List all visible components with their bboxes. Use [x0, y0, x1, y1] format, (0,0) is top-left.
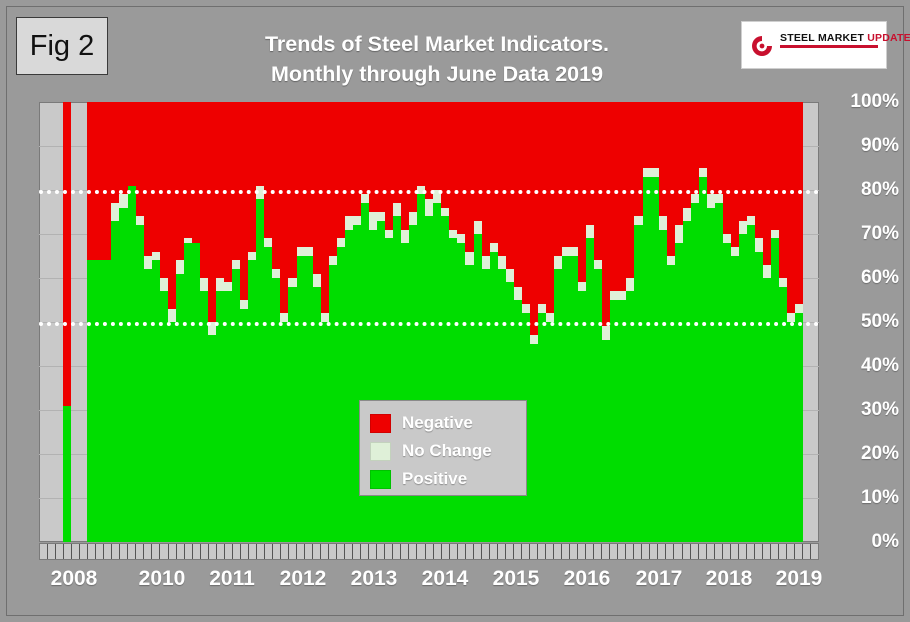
bar-segment-negative: [136, 102, 144, 216]
bar-segment-positive: [152, 260, 160, 542]
bar-segment-positive: [184, 243, 192, 542]
x-axis-tick: [361, 544, 369, 559]
bar-segment-negative: [465, 102, 473, 252]
logo-underline: [780, 45, 878, 48]
bar-segment-negative: [433, 102, 441, 190]
x-axis-tick: [233, 544, 241, 559]
x-axis-tick-label: 2014: [422, 567, 469, 591]
x-axis-tick: [787, 544, 795, 559]
x-axis-tick: [514, 544, 522, 559]
bar-segment-no-change: [248, 252, 256, 261]
bar-segment-positive: [723, 243, 731, 542]
bar-segment-no-change: [313, 274, 321, 287]
bar-segment-positive: [160, 291, 168, 542]
bar-segment-negative: [755, 102, 763, 238]
bar-segment-no-change: [393, 203, 401, 216]
legend-item-positive: Positive: [370, 465, 516, 493]
x-axis-tick: [104, 544, 112, 559]
bar-segment-no-change: [610, 291, 618, 300]
bar-segment-negative: [474, 102, 482, 221]
bar-segment-positive: [272, 278, 280, 542]
bar-segment-no-change: [683, 208, 691, 221]
x-axis-tick: [610, 544, 618, 559]
bar-segment-positive: [337, 247, 345, 542]
bar-segment-no-change: [272, 269, 280, 278]
bar-segment-no-change: [168, 309, 176, 322]
bar-segment-no-change: [643, 168, 651, 177]
bar-segment-no-change: [152, 252, 160, 261]
x-axis-tick: [586, 544, 594, 559]
bar-segment-positive: [232, 269, 240, 542]
x-axis-tick: [144, 544, 152, 559]
x-axis-tick: [658, 544, 666, 559]
bar-segment-positive: [739, 234, 747, 542]
x-axis-tick: [96, 544, 104, 559]
figure-number-box: Fig 2: [16, 17, 108, 75]
x-axis-tick: [546, 544, 554, 559]
x-axis-tick: [337, 544, 345, 559]
bar-segment-no-change: [506, 269, 514, 282]
bar-segment-no-change: [530, 335, 538, 344]
x-axis-tick: [128, 544, 136, 559]
x-axis-tick: [305, 544, 313, 559]
bar-segment-negative: [739, 102, 747, 221]
bar-segment-no-change: [441, 208, 449, 217]
logo-word-market: MARKET: [818, 32, 864, 44]
bar-segment-negative: [602, 102, 610, 326]
bar-segment-negative: [610, 102, 618, 291]
bar-segment-positive: [385, 238, 393, 542]
x-axis-tick: [594, 544, 602, 559]
bar-segment-no-change: [570, 247, 578, 256]
bar-segment-positive: [192, 243, 200, 542]
bar-segment-negative: [457, 102, 465, 234]
bar-segment-negative: [393, 102, 401, 203]
bar-segment-no-change: [586, 225, 594, 238]
x-axis-tick-label: 2017: [636, 567, 683, 591]
legend-swatch-positive: [370, 470, 391, 489]
legend-label-negative: Negative: [402, 413, 473, 433]
bar-segment-positive: [634, 225, 642, 542]
bar-segment-negative: [232, 102, 240, 260]
x-axis-tick: [377, 544, 385, 559]
bar-segment-positive: [224, 291, 232, 542]
y-axis-tick-label: 20%: [861, 443, 899, 465]
bar-segment-negative: [329, 102, 337, 256]
bar-segment-negative: [409, 102, 417, 212]
bar-segment-negative: [449, 102, 457, 230]
x-axis-tick: [417, 544, 425, 559]
x-axis-tick: [313, 544, 321, 559]
logo-word-steel: STEEL: [780, 32, 815, 44]
bar-segment-no-change: [514, 287, 522, 300]
x-axis-tick: [530, 544, 538, 559]
x-axis-tick: [241, 544, 249, 559]
x-axis-tick-label: 2010: [139, 567, 186, 591]
bar-segment-no-change: [723, 234, 731, 243]
bar-segment-no-change: [691, 194, 699, 203]
x-axis-tick: [683, 544, 691, 559]
bar-segment-negative: [506, 102, 514, 269]
bar-segment-negative: [280, 102, 288, 313]
bar-segment-no-change: [522, 304, 530, 313]
bar-segment-positive: [248, 260, 256, 542]
bar-segment-positive: [490, 252, 498, 542]
bar-segment-positive: [200, 291, 208, 542]
x-axis-tick: [40, 544, 48, 559]
bar-segment-no-change: [425, 199, 433, 217]
x-axis-tick: [120, 544, 128, 559]
bar-segment-no-change: [538, 304, 546, 313]
bar-segment-negative: [345, 102, 353, 216]
bar-segment-negative: [144, 102, 152, 256]
bar-segment-no-change: [288, 278, 296, 287]
bar-segment-positive: [578, 291, 586, 542]
bar-segment-positive: [586, 238, 594, 542]
x-axis-tick: [779, 544, 787, 559]
x-axis-tick: [401, 544, 409, 559]
bar-segment-negative: [377, 102, 385, 212]
bar-segment-negative: [95, 102, 103, 260]
bar-segment-no-change: [321, 313, 329, 322]
bar-segment-positive: [602, 340, 610, 542]
bar-segment-negative: [562, 102, 570, 247]
bar-segment-negative: [675, 102, 683, 225]
bar-segment-negative: [482, 102, 490, 256]
bar-segment-positive: [297, 256, 305, 542]
bar-segment-positive: [707, 208, 715, 542]
bar-segment-negative: [401, 102, 409, 230]
x-axis-tick: [209, 544, 217, 559]
x-axis-tick: [795, 544, 803, 559]
bar-segment-no-change: [111, 203, 119, 221]
bar-segment-negative: [586, 102, 594, 225]
bar-segment-positive: [111, 221, 119, 542]
bar-segment-no-change: [401, 230, 409, 243]
bar-segment-negative: [337, 102, 345, 238]
bar-segment-negative: [168, 102, 176, 309]
bar-segment-negative: [248, 102, 256, 252]
bar-segment-no-change: [771, 230, 779, 239]
bar-segment-no-change: [747, 216, 755, 225]
bar-segment-positive: [747, 225, 755, 542]
bar-segment-positive: [763, 278, 771, 542]
x-axis-tick: [666, 544, 674, 559]
bar-segment-no-change: [385, 230, 393, 239]
bar-segment-negative: [321, 102, 329, 313]
x-axis-tick: [602, 544, 610, 559]
x-axis-tick: [72, 544, 80, 559]
bar-segment-negative: [715, 102, 723, 194]
bar-segment-negative: [256, 102, 264, 186]
x-axis-tick: [385, 544, 393, 559]
bar-segment-no-change: [361, 194, 369, 203]
bar-segment-no-change: [353, 216, 361, 225]
x-axis-tick: [458, 544, 466, 559]
x-axis-tick-strip: [39, 543, 819, 560]
bar-segment-positive: [659, 230, 667, 542]
bar-segment-positive: [168, 322, 176, 542]
y-axis-tick-label: 70%: [861, 223, 899, 245]
x-axis-tick: [64, 544, 72, 559]
bar-segment-negative: [264, 102, 272, 238]
x-axis-labels: 2008201020112012201320142015201620172018…: [39, 567, 819, 603]
bar-segment-negative: [731, 102, 739, 247]
reference-line-80: [39, 190, 819, 194]
x-axis-tick: [281, 544, 289, 559]
bar-segment-negative: [63, 102, 71, 406]
bar-segment-no-change: [200, 278, 208, 291]
y-axis-labels: 0%10%20%30%40%50%60%70%80%90%100%: [825, 102, 899, 542]
bar-segment-no-change: [675, 225, 683, 243]
bar-segment-no-change: [409, 212, 417, 225]
y-axis-tick-label: 80%: [861, 179, 899, 201]
x-axis-tick: [506, 544, 514, 559]
bar-segment-negative: [643, 102, 651, 168]
x-axis-tick-label: 2013: [351, 567, 398, 591]
bar-segment-positive: [256, 199, 264, 542]
bar-segment-positive: [562, 256, 570, 542]
bar-segment-no-change: [795, 304, 803, 313]
x-axis-tick: [273, 544, 281, 559]
bar-segment-negative: [425, 102, 433, 199]
x-axis-tick: [185, 544, 193, 559]
bar-segment-positive: [570, 256, 578, 542]
reference-line-50: [39, 322, 819, 326]
bar-segment-positive: [546, 322, 554, 542]
x-axis-tick: [538, 544, 546, 559]
x-axis-tick: [482, 544, 490, 559]
legend-item-no-change: No Change: [370, 437, 516, 465]
bar-segment-no-change: [377, 212, 385, 221]
bar-segment-negative: [176, 102, 184, 260]
x-axis-tick: [755, 544, 763, 559]
x-axis-tick: [739, 544, 747, 559]
x-axis-tick: [811, 544, 818, 559]
y-axis-tick-label: 90%: [861, 135, 899, 157]
steel-market-update-logo: STEEL MARKET UPDATE: [741, 21, 887, 69]
x-axis-tick: [329, 544, 337, 559]
chart-title: Trends of Steel Market Indicators. Month…: [177, 29, 697, 89]
x-axis-tick: [731, 544, 739, 559]
bar-segment-no-change: [787, 313, 795, 322]
bar-segment-no-change: [634, 216, 642, 225]
x-axis-tick: [426, 544, 434, 559]
bar-segment-negative: [103, 102, 111, 260]
bar-segment-negative: [530, 102, 538, 335]
bar-segment-negative: [634, 102, 642, 216]
swoosh-icon: [748, 32, 776, 60]
x-axis-tick: [265, 544, 273, 559]
x-axis-tick: [321, 544, 329, 559]
bar-segment-positive: [240, 309, 248, 542]
bar-segment-no-change: [240, 300, 248, 309]
bar-segment-positive: [667, 265, 675, 542]
bar-segment-positive: [305, 256, 313, 542]
bar-segment-no-change: [369, 212, 377, 230]
bar-segment-negative: [707, 102, 715, 194]
bar-segment-positive: [144, 269, 152, 542]
bar-segment-positive: [449, 238, 457, 542]
bar-segment-positive: [610, 300, 618, 542]
x-axis-tick: [193, 544, 201, 559]
bar-segment-no-change: [482, 256, 490, 269]
x-axis-tick-label: 2018: [706, 567, 753, 591]
bar-segment-no-change: [715, 194, 723, 203]
bar-segment-no-change: [457, 234, 465, 243]
bar-segment-negative: [538, 102, 546, 304]
x-axis-tick: [803, 544, 811, 559]
x-axis-tick-label: 2008: [51, 567, 98, 591]
bar-segment-negative: [361, 102, 369, 194]
bar-segment-positive: [264, 247, 272, 542]
bar-segment-negative: [771, 102, 779, 230]
bar-segment-positive: [538, 313, 546, 542]
bar-segment-no-change: [594, 260, 602, 269]
bar-segment-no-change: [618, 291, 626, 300]
x-axis-tick: [707, 544, 715, 559]
bar-segment-negative: [111, 102, 119, 203]
bar-segment-negative: [659, 102, 667, 216]
bar-segment-no-change: [578, 282, 586, 291]
bar-segment-no-change: [490, 243, 498, 252]
y-axis-tick-label: 10%: [861, 487, 899, 509]
x-axis-tick: [409, 544, 417, 559]
bar-segment-no-change: [739, 221, 747, 234]
bar-segment-positive: [691, 203, 699, 542]
x-axis-tick: [289, 544, 297, 559]
chart-title-line2: Monthly through June Data 2019: [177, 59, 697, 89]
bar-segment-positive: [626, 291, 634, 542]
bar-segment-positive: [119, 208, 127, 542]
x-axis-tick: [393, 544, 401, 559]
bar-segment-no-change: [144, 256, 152, 269]
bar-segment-negative: [490, 102, 498, 243]
x-axis-tick: [554, 544, 562, 559]
legend-label-positive: Positive: [402, 469, 467, 489]
bar-segment-positive: [771, 238, 779, 542]
bar-segment-no-change: [474, 221, 482, 234]
x-axis-tick: [578, 544, 586, 559]
x-axis-tick: [225, 544, 233, 559]
bar-segment-negative: [618, 102, 626, 291]
legend-swatch-negative: [370, 414, 391, 433]
bar-segment-no-change: [707, 194, 715, 207]
bar-segment-no-change: [216, 278, 224, 291]
x-axis-tick: [498, 544, 506, 559]
bar-segment-negative: [417, 102, 425, 186]
bar-segment-negative: [747, 102, 755, 216]
bar-segment-negative: [369, 102, 377, 212]
bar-segment-positive: [643, 177, 651, 542]
bar-segment-positive: [457, 243, 465, 542]
x-axis-tick: [80, 544, 88, 559]
x-axis-tick: [297, 544, 305, 559]
bar-segment-no-change: [224, 282, 232, 291]
bar-segment-positive: [280, 322, 288, 542]
bar-segment-negative: [313, 102, 321, 274]
bar-segment-no-change: [160, 278, 168, 291]
x-axis-tick: [369, 544, 377, 559]
bar-segment-no-change: [626, 278, 634, 291]
bar-segment-negative: [787, 102, 795, 313]
bar-segment-positive: [755, 252, 763, 542]
bar-segment-positive: [136, 225, 144, 542]
x-axis-tick: [217, 544, 225, 559]
bar-segment-negative: [498, 102, 506, 256]
x-axis-tick-label: 2016: [564, 567, 611, 591]
x-axis-tick: [201, 544, 209, 559]
bar-segment-no-change: [602, 326, 610, 339]
bar-segment-no-change: [337, 238, 345, 247]
chart-title-line1: Trends of Steel Market Indicators.: [177, 29, 697, 59]
bar-segment-negative: [795, 102, 803, 304]
bar-segment-no-change: [755, 238, 763, 251]
bar-segment-no-change: [297, 247, 305, 256]
y-axis-tick-label: 0%: [872, 531, 899, 553]
x-axis-tick: [570, 544, 578, 559]
x-axis-tick: [136, 544, 144, 559]
x-axis-tick-label: 2012: [280, 567, 327, 591]
x-axis-tick: [48, 544, 56, 559]
x-axis-tick: [771, 544, 779, 559]
x-axis-tick: [353, 544, 361, 559]
bar-segment-no-change: [731, 247, 739, 256]
bar-segment-no-change: [232, 260, 240, 269]
bar-segment-no-change: [779, 278, 787, 287]
bar-segment-no-change: [763, 265, 771, 278]
figure-frame: Fig 2 Trends of Steel Market Indicators.…: [6, 6, 904, 616]
y-axis-tick-label: 30%: [861, 399, 899, 421]
bar-segment-no-change: [554, 256, 562, 269]
bar-segment-negative: [353, 102, 361, 216]
bar-segment-positive: [128, 186, 136, 542]
x-axis-tick-label: 2019: [776, 567, 823, 591]
x-axis-tick: [466, 544, 474, 559]
bar-segment-negative: [691, 102, 699, 194]
bar-segment-negative: [594, 102, 602, 260]
x-axis-tick: [160, 544, 168, 559]
bar-segment-negative: [651, 102, 659, 168]
legend-swatch-no-change: [370, 442, 391, 461]
bar-segment-no-change: [329, 256, 337, 265]
bar-segment-positive: [618, 300, 626, 542]
bar-segment-no-change: [119, 194, 127, 207]
logo-word-update: UPDATE: [867, 32, 910, 44]
bar-segment-positive: [594, 269, 602, 542]
x-axis-tick: [442, 544, 450, 559]
bar-segment-positive: [530, 344, 538, 542]
x-axis-tick: [450, 544, 458, 559]
bar-segment-no-change: [345, 216, 353, 229]
bar-segment-no-change: [176, 260, 184, 273]
bar-segment-positive: [329, 265, 337, 542]
bar-segment-positive: [651, 177, 659, 542]
x-axis-tick: [434, 544, 442, 559]
x-axis-tick: [715, 544, 723, 559]
bar-segment-negative: [554, 102, 562, 256]
chart-legend: Negative No Change Positive: [359, 400, 527, 496]
x-axis-tick: [634, 544, 642, 559]
x-axis-tick: [112, 544, 120, 559]
x-axis-tick-label: 2011: [209, 567, 255, 591]
figure-number-label: Fig 2: [30, 30, 94, 63]
bar-segment-positive: [176, 274, 184, 542]
x-axis-tick: [691, 544, 699, 559]
bar-segment-negative: [763, 102, 771, 265]
bar-segment-no-change: [699, 168, 707, 177]
x-axis-tick: [490, 544, 498, 559]
